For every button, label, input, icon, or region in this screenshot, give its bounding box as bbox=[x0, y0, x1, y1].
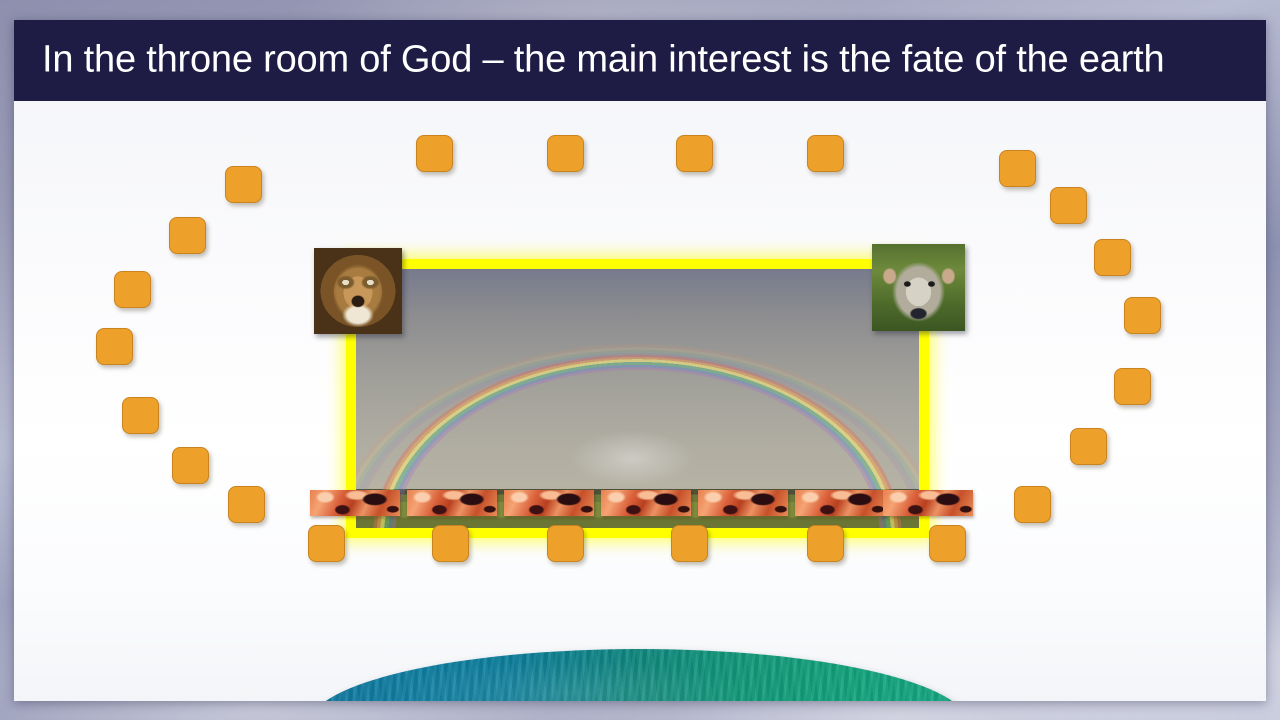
orange-bead[interactable] bbox=[308, 525, 345, 562]
orange-bead[interactable] bbox=[1014, 486, 1051, 523]
orange-bead[interactable] bbox=[547, 525, 584, 562]
title-bar: In the throne room of God – the main int… bbox=[14, 20, 1266, 101]
orange-bead[interactable] bbox=[114, 271, 151, 308]
orange-bead[interactable] bbox=[671, 525, 708, 562]
lion-photo[interactable] bbox=[314, 248, 402, 334]
orange-bead[interactable] bbox=[807, 525, 844, 562]
lava-strip[interactable] bbox=[504, 490, 594, 516]
orange-bead[interactable] bbox=[96, 328, 133, 365]
orange-bead[interactable] bbox=[1070, 428, 1107, 465]
orange-bead[interactable] bbox=[1094, 239, 1131, 276]
orange-bead[interactable] bbox=[172, 447, 209, 484]
lava-strip[interactable] bbox=[795, 490, 885, 516]
orange-bead[interactable] bbox=[225, 166, 262, 203]
slide-root: In the throne room of God – the main int… bbox=[0, 0, 1280, 720]
lava-strip[interactable] bbox=[883, 490, 973, 516]
orange-bead[interactable] bbox=[432, 525, 469, 562]
lava-strip[interactable] bbox=[310, 490, 400, 516]
orange-bead[interactable] bbox=[228, 486, 265, 523]
water-sheen bbox=[388, 661, 751, 701]
lava-strip[interactable] bbox=[407, 490, 497, 516]
orange-bead[interactable] bbox=[122, 397, 159, 434]
sea-of-glass-ellipse[interactable] bbox=[309, 649, 969, 701]
orange-bead[interactable] bbox=[169, 217, 206, 254]
slide-card: In the throne room of God – the main int… bbox=[14, 20, 1266, 701]
orange-bead[interactable] bbox=[1050, 187, 1087, 224]
slide-title: In the throne room of God – the main int… bbox=[42, 38, 1164, 81]
orange-bead[interactable] bbox=[807, 135, 844, 172]
orange-bead[interactable] bbox=[416, 135, 453, 172]
orange-bead[interactable] bbox=[547, 135, 584, 172]
calf-photo[interactable] bbox=[872, 244, 965, 331]
slide-canvas bbox=[14, 101, 1266, 701]
lava-strip[interactable] bbox=[601, 490, 691, 516]
orange-bead[interactable] bbox=[929, 525, 966, 562]
cloud-haze bbox=[570, 430, 694, 487]
orange-bead[interactable] bbox=[1124, 297, 1161, 334]
lava-strip[interactable] bbox=[698, 490, 788, 516]
orange-bead[interactable] bbox=[676, 135, 713, 172]
orange-bead[interactable] bbox=[999, 150, 1036, 187]
orange-bead[interactable] bbox=[1114, 368, 1151, 405]
